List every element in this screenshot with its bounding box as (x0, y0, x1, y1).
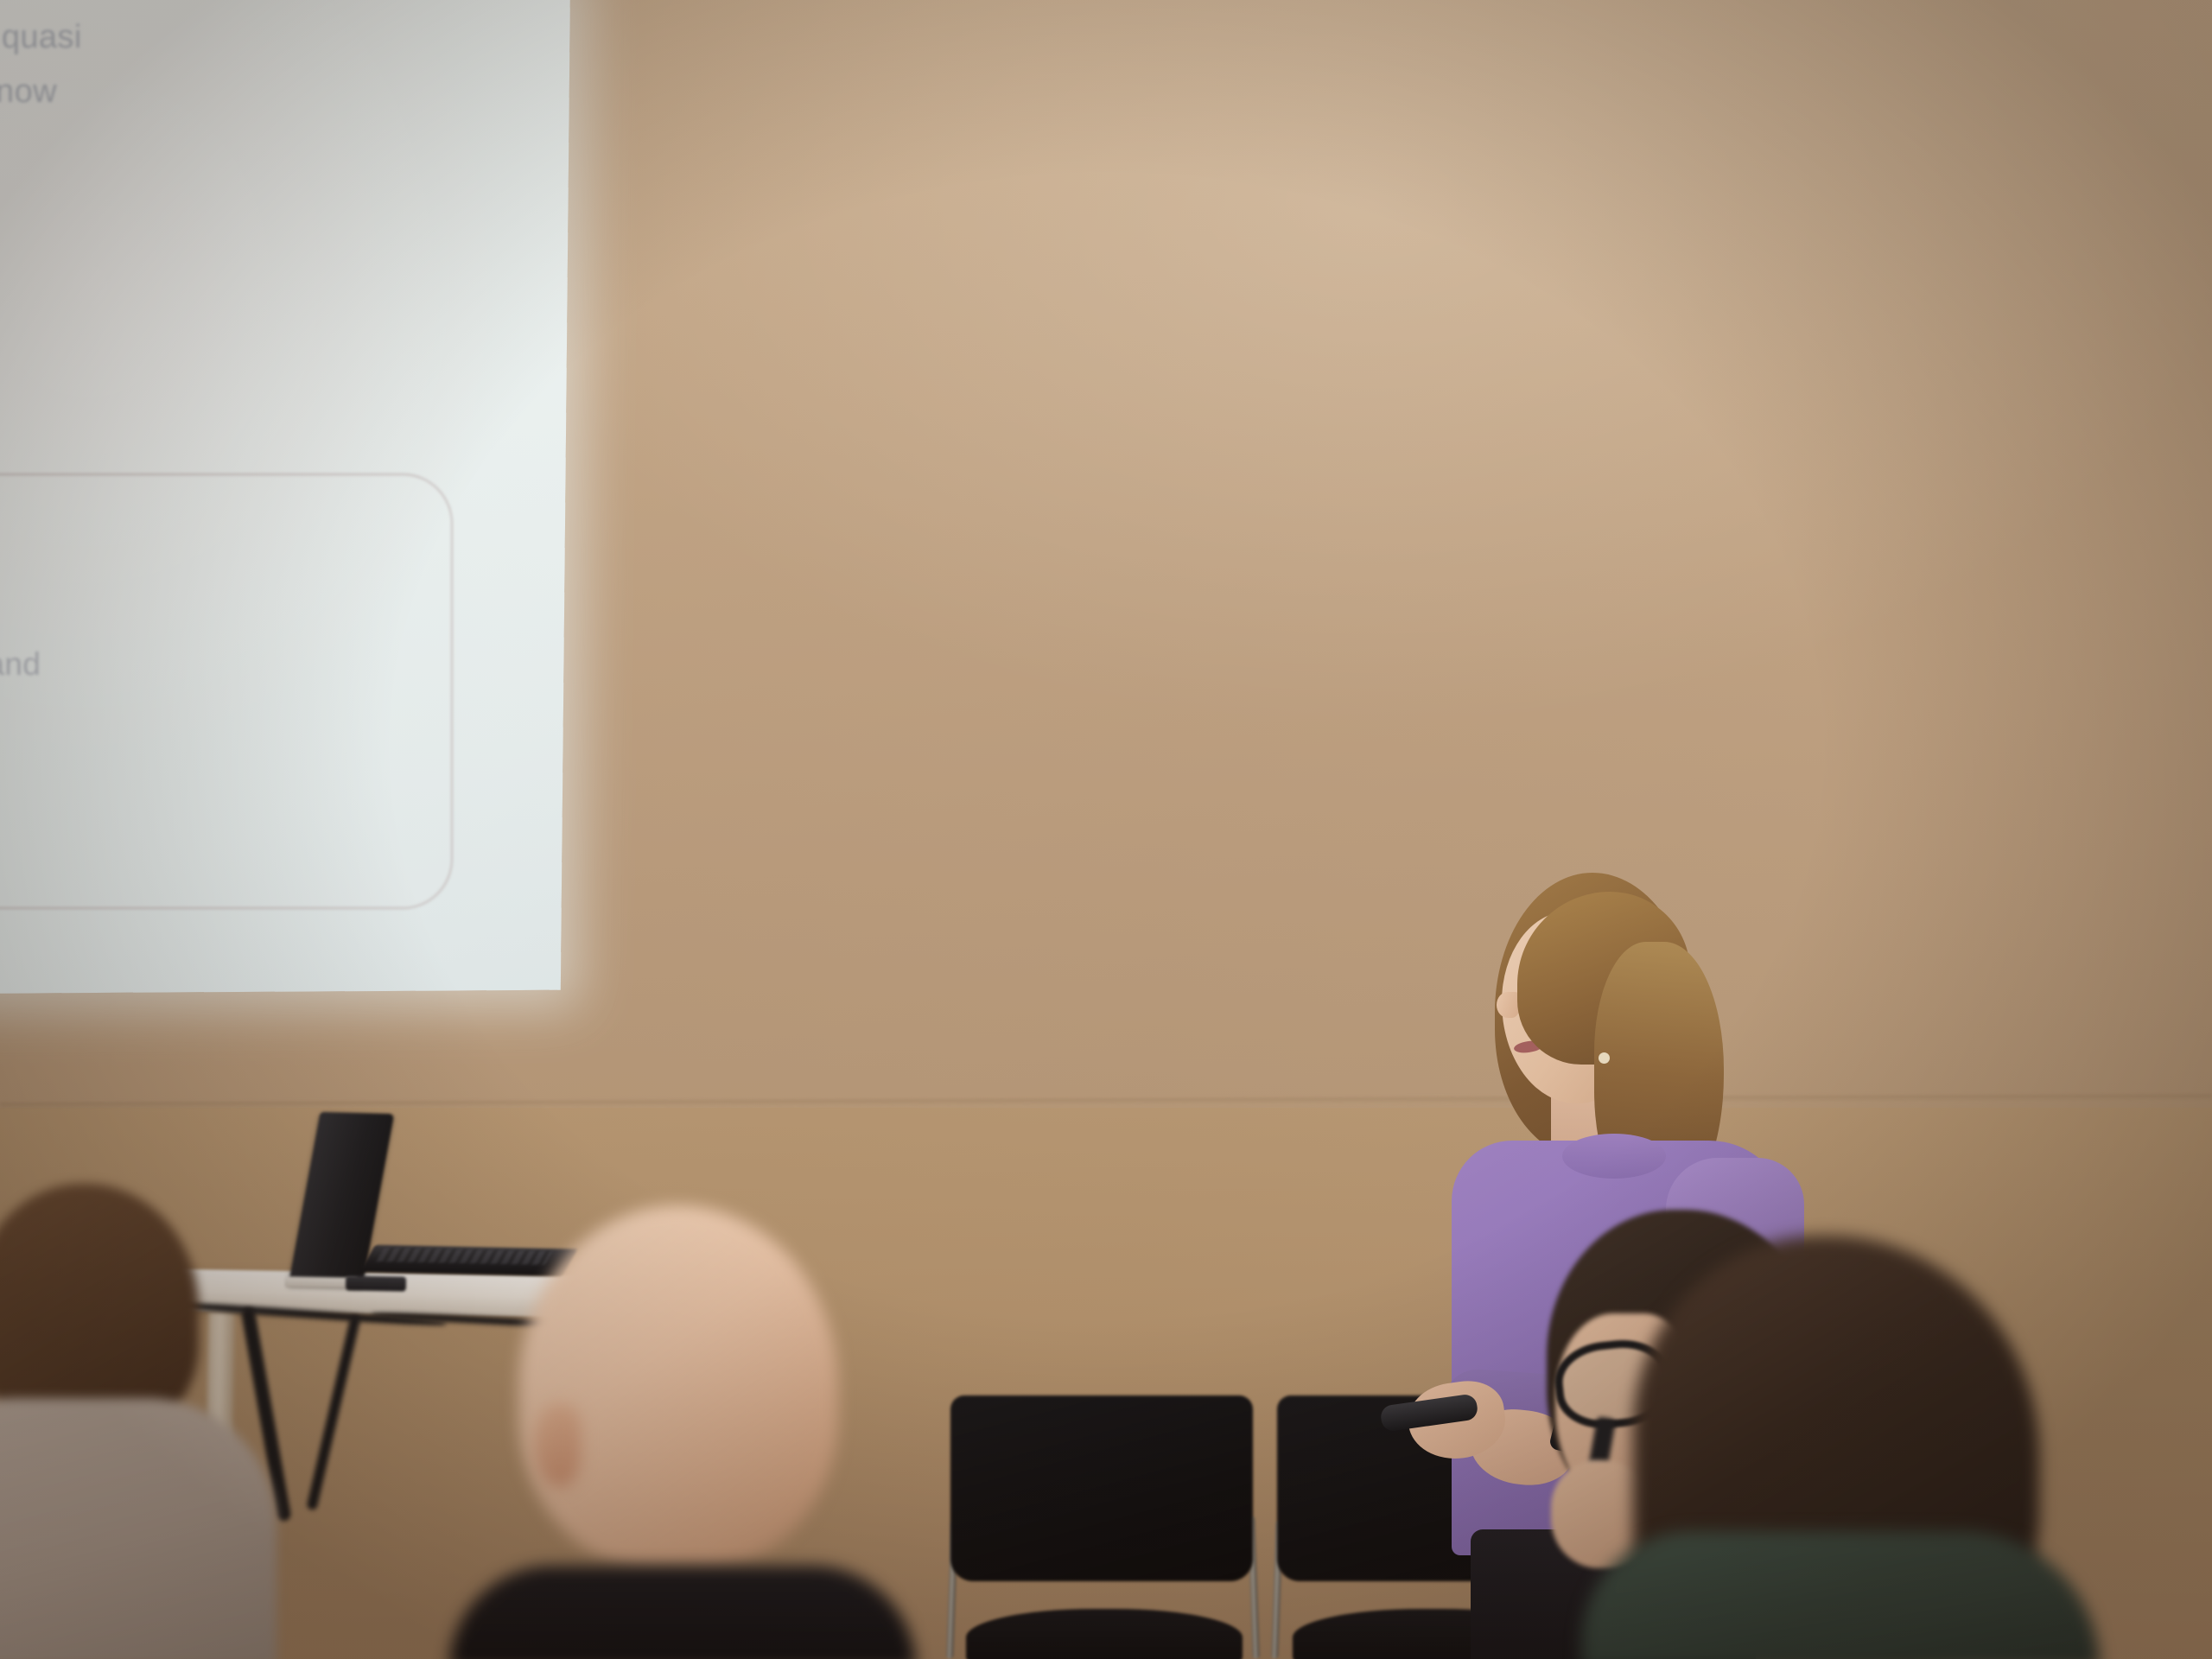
audience-dark-hair-body (1581, 1531, 2100, 1659)
slide-callout-text: uasi-isometry and (0, 646, 41, 683)
slide-text-line-2: wn, do we know (0, 73, 57, 111)
chair-seat (966, 1609, 1243, 1659)
slide-text-line-1: wn, and the quasi (0, 19, 82, 56)
audience-bald-ear (534, 1404, 581, 1487)
presenter-nose (1497, 992, 1519, 1018)
presenter-earring (1599, 1052, 1610, 1064)
seminar-room-photo: wn, and the quasi wn, do we know known X… (0, 0, 2212, 1659)
slide-callout-box (0, 474, 453, 909)
audience-bald-head (518, 1205, 838, 1568)
cable-adapter (346, 1275, 406, 1291)
presenter-collar (1562, 1134, 1666, 1179)
audience-left-body (0, 1398, 276, 1659)
chair-left (950, 1395, 1253, 1581)
audience-bald-body (449, 1566, 916, 1659)
